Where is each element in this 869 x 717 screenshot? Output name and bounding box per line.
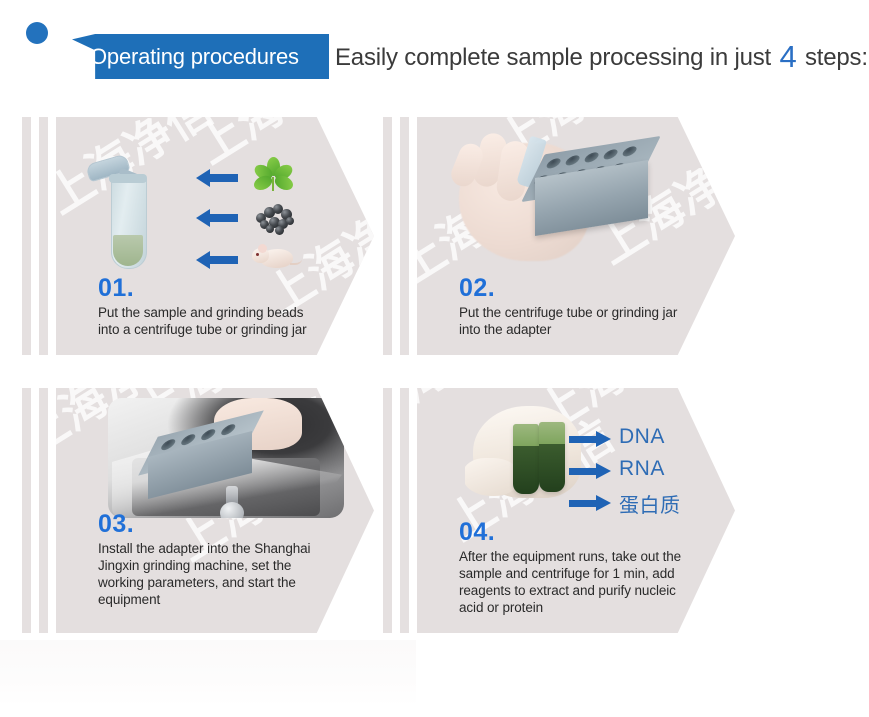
grinding-beads-icon [254,201,296,231]
output-label: RNA [619,457,665,481]
card-accent-bar [39,117,48,355]
arrow-right-icon [569,464,611,479]
card-accent-bar [383,117,392,355]
input-row-beads [196,205,331,231]
headline-prefix: Easily complete sample processing in jus… [335,44,771,71]
card-body: 上海净信 上海净信 上海净信 [56,117,374,355]
badge-label: Operating procedures [90,40,330,73]
headline-suffix: steps: [805,44,868,71]
card-body: 上海净信 上海净信 上海净信 上海净信 [56,388,374,633]
card-accent-bar [39,388,48,633]
output-label: DNA [619,425,665,449]
card-accent-bar [400,117,409,355]
arrow-right-icon [569,496,611,511]
step-card-04: 上海净信 上海净信 上海净信 DNA RNA [383,388,735,633]
arrow-left-icon [196,169,238,187]
arrow-right-icon [569,432,611,447]
adapter-photo [437,125,667,271]
output-row-rna: RNA [569,457,719,485]
grinding-machine-photo [108,398,344,518]
step-description: Install the adapter into the Shanghai Ji… [98,540,360,608]
step-number: 01. [98,274,134,303]
card-accent-bar [22,117,31,355]
card-accent-bar [400,388,409,633]
step-card-03: 上海净信 上海净信 上海净信 上海净信 [22,388,374,633]
card-accent-bar [383,388,392,633]
step-card-02: 上海净信 上海净信 上海净信 [383,117,735,355]
header: Operating procedures Easily complete sam… [0,0,869,100]
step-number: 02. [459,274,495,303]
step-number: 03. [98,510,134,539]
input-row-leaf [196,165,331,191]
infographic-page: Operating procedures Easily complete sam… [0,0,869,717]
output-row-dna: DNA [569,425,719,453]
page-title: Easily complete sample processing in jus… [335,39,868,75]
leaf-icon [254,159,292,193]
badge-dot-icon [26,22,48,44]
output-label: 蛋白质 [619,489,681,518]
centrifuge-tube-icon [103,159,149,269]
step-description: After the equipment runs, take out the s… [459,548,721,616]
output-row-protein: 蛋白质 [569,489,719,517]
step-card-01: 上海净信 上海净信 上海净信 [22,117,374,355]
step-number: 04. [459,518,495,547]
step-description: Put the centrifuge tube or grinding jar … [459,304,721,338]
bottom-filler-panel [0,640,416,706]
card-accent-bar [22,388,31,633]
sample-vial-icon [539,422,565,492]
card-body: 上海净信 上海净信 上海净信 DNA RNA [417,388,735,633]
arrow-left-icon [196,209,238,227]
mouse-icon [252,239,298,273]
input-row-mouse [196,247,331,273]
step-description: Put the sample and grinding beads into a… [98,304,358,338]
card-body: 上海净信 上海净信 上海净信 [417,117,735,355]
arrow-left-icon [196,251,238,269]
headline-step-count: 4 [777,39,798,74]
sample-vial-icon [513,424,539,494]
